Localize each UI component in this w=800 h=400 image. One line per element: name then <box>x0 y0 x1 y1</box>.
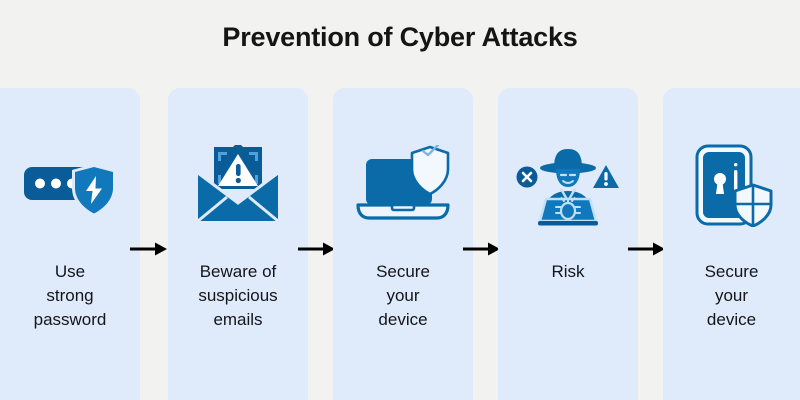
arrow-right-icon <box>463 241 501 257</box>
hacker-laptop-bug-icon <box>498 140 638 230</box>
warning-email-icon <box>168 140 308 230</box>
step-panel-1[interactable]: Use strong password <box>0 88 140 400</box>
laptop-shield-icon <box>333 140 473 230</box>
step-panel-4[interactable]: Risk <box>498 88 638 400</box>
step-label-1: Use strong password <box>0 260 140 332</box>
step-panel-5[interactable]: Secure your device <box>663 88 800 400</box>
step-panel-2[interactable]: Beware of suspicious emails <box>168 88 308 400</box>
step-label-4: Risk <box>498 260 638 284</box>
phone-lock-shield-icon <box>663 140 800 230</box>
arrow-right-icon <box>298 241 336 257</box>
page-title: Prevention of Cyber Attacks <box>0 22 800 53</box>
step-label-3: Secure your device <box>333 260 473 332</box>
step-label-2: Beware of suspicious emails <box>168 260 308 332</box>
arrow-right-icon <box>130 241 168 257</box>
step-label-5: Secure your device <box>663 260 800 332</box>
arrow-right-icon <box>628 241 666 257</box>
password-shield-icon <box>0 140 140 230</box>
infographic-canvas: Prevention of Cyber Attacks Use strong p… <box>0 0 800 400</box>
step-panel-3[interactable]: Secure your device <box>333 88 473 400</box>
